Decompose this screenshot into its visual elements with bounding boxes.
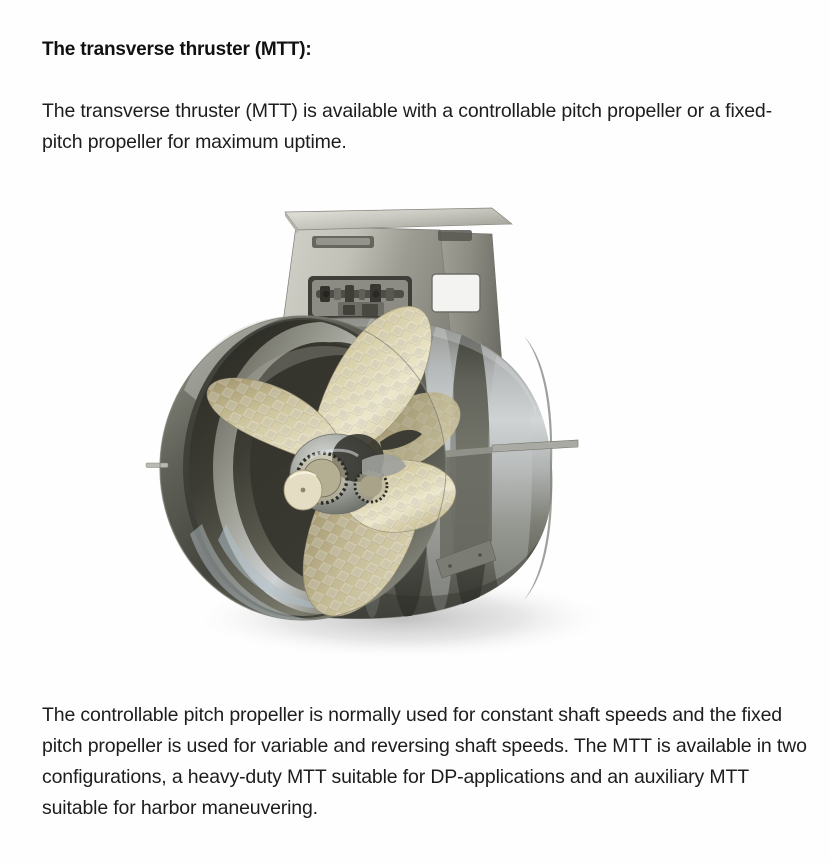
page-root: The transverse thruster (MTT): The trans…	[0, 0, 830, 863]
locator-pin-left	[146, 463, 168, 468]
body-paragraph: The controllable pitch propeller is norm…	[42, 700, 817, 824]
bracket-top-flange	[285, 208, 512, 230]
bracket-window-right	[432, 274, 480, 312]
intro-paragraph: The transverse thruster (MTT) is availab…	[42, 96, 802, 158]
page-title: The transverse thruster (MTT):	[42, 37, 312, 63]
thruster-product-image	[140, 168, 630, 663]
thruster-illustration	[140, 168, 630, 663]
